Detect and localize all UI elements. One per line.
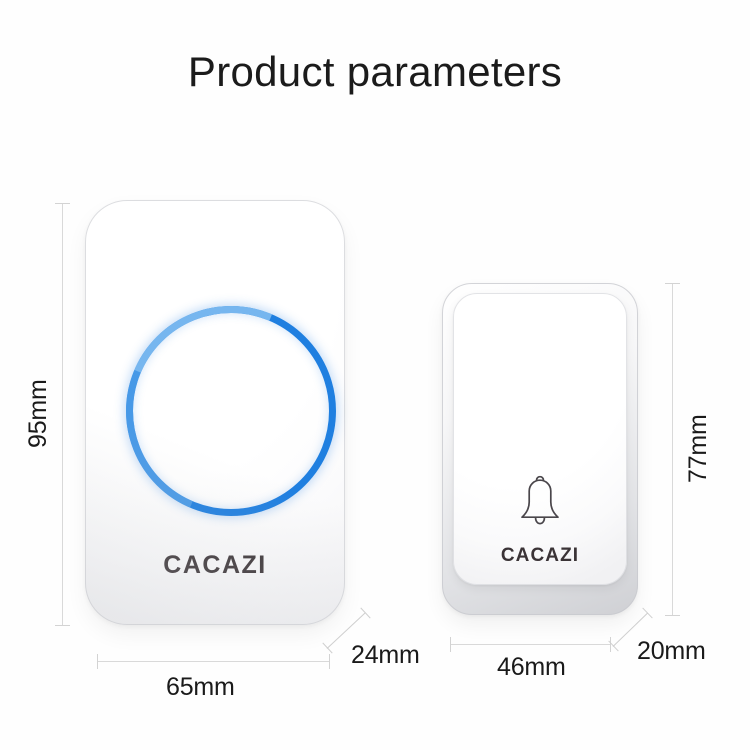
transmitter-height-label: 77mm [684,414,713,483]
transmitter-width-label: 46mm [497,653,566,682]
transmitter-width-dimension-line [450,644,610,645]
transmitter-button-panel[interactable]: CACAZI [453,293,627,585]
page-title: Product parameters [0,48,750,96]
bell-icon [514,475,566,529]
transmitter-width-cap-left [450,637,451,652]
transmitter-brand-label: CACAZI [453,545,627,567]
receiver-device: CACAZI [85,200,345,625]
transmitter-device: CACAZI [442,283,638,615]
receiver-height-dimension-line [62,203,63,625]
led-ring-icon [126,306,336,516]
receiver-brand-label: CACAZI [85,551,345,580]
receiver-depth-label: 24mm [351,641,420,670]
receiver-width-label: 65mm [166,673,235,702]
receiver-width-cap-left [97,654,98,669]
receiver-height-cap-bottom [55,625,70,626]
transmitter-height-cap-top [665,283,680,284]
receiver-height-label: 95mm [24,379,53,448]
product-parameters-image: Product parameters CACAZI 95mm 65mm 24mm [0,0,750,750]
transmitter-height-cap-bottom [665,615,680,616]
receiver-height-cap-top [55,203,70,204]
receiver-depth-cap-far [360,608,370,619]
receiver-width-dimension-line [97,661,329,662]
transmitter-depth-label: 20mm [637,637,706,666]
receiver-width-cap-right [329,654,330,669]
transmitter-height-dimension-line [672,283,673,615]
